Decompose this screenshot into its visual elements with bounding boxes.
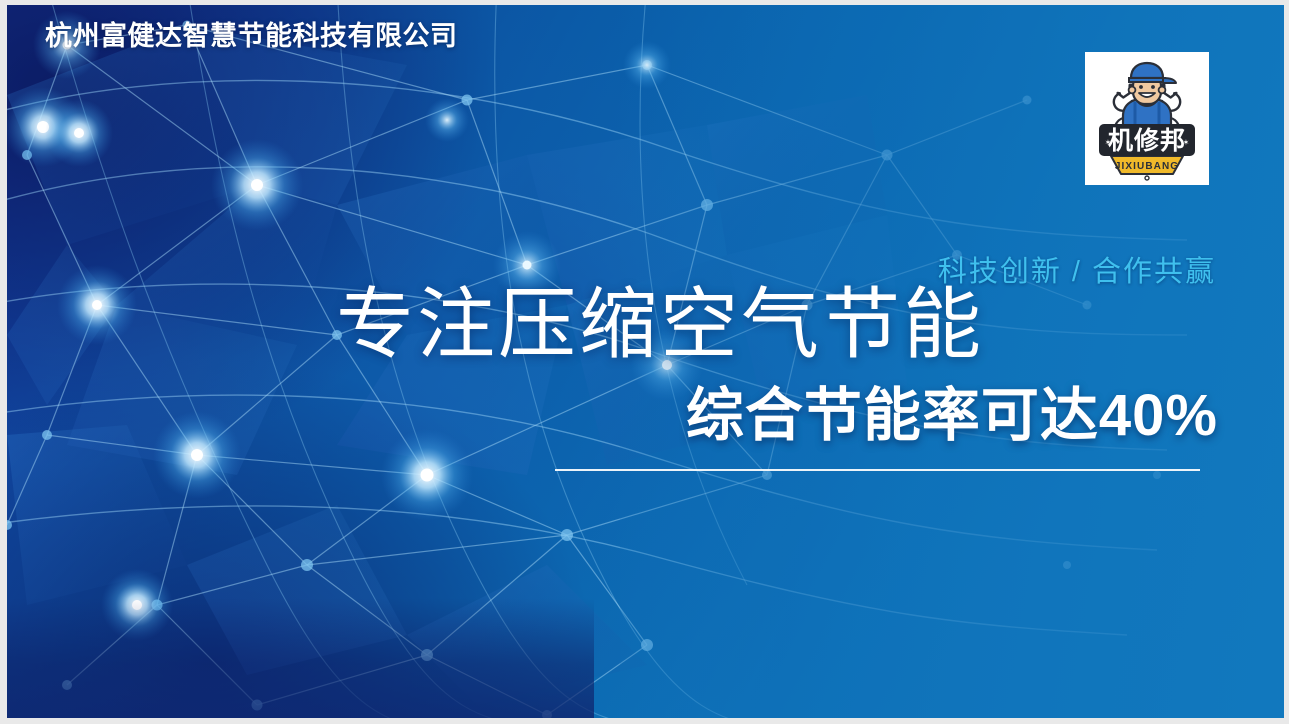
subheadline: 综合节能率可达40% — [7, 387, 1218, 445]
brand-logo[interactable]: JIXIUBANG ✶ 机修邦 ✶ — [1085, 52, 1209, 185]
slide-canvas: 杭州富健达智慧节能科技有限公司 — [7, 5, 1284, 718]
presentation-slide: 杭州富健达智慧节能科技有限公司 — [0, 0, 1289, 724]
company-name: 杭州富健达智慧节能科技有限公司 — [45, 14, 458, 53]
headline: 专注压缩空气节能 — [7, 286, 984, 364]
background-bottom-band — [7, 598, 594, 718]
divider-rule — [555, 469, 1200, 471]
logo-right-star: ✶ — [1183, 138, 1190, 147]
mechanic-with-wrenches-logo: JIXIUBANG ✶ 机修邦 ✶ — [1085, 52, 1209, 185]
logo-brand-cn: 机修邦 — [1108, 126, 1186, 155]
logo-pinyin: JIXIUBANG — [1115, 161, 1179, 172]
